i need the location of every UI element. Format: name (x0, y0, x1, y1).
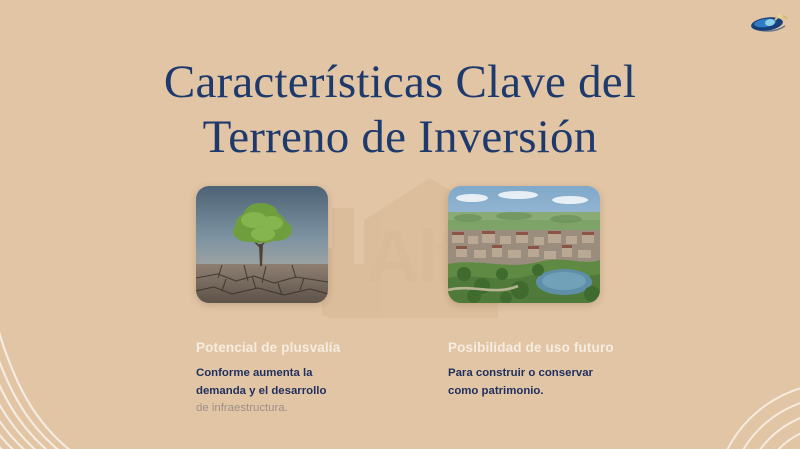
caption-body-uso-futuro: Para construir o conservar como patrimon… (448, 365, 678, 400)
caption-body-plusvalia: Conforme aumenta la demanda y el desarro… (196, 365, 411, 417)
caption-heading-plusvalia: Potencial de plusvalía (196, 340, 411, 356)
image-card-uso-futuro (448, 186, 600, 303)
caption-block-plusvalia: Potencial de plusvalía Conforme aumenta … (196, 340, 411, 417)
caption-body-line-1: Para construir o conservar (448, 367, 593, 379)
caption-heading-uso-futuro: Posibilidad de uso futuro (448, 340, 678, 356)
caption-body-line-2: como patrimonio. (448, 385, 544, 397)
watermark-text: Alf (366, 220, 459, 294)
decorative-wave-lines-left (0, 200, 170, 449)
photo-tree-on-cracked-earth (196, 186, 328, 303)
company-logo-icon (745, 5, 793, 43)
presentation-slide: Alf Características Clave del Terreno de… (0, 0, 800, 449)
caption-body-line-2: demanda y el desarrollo (196, 385, 326, 397)
slide-title: Características Clave del Terreno de Inv… (0, 55, 800, 164)
slide-title-line-1: Características Clave del (0, 55, 800, 110)
image-card-plusvalia (196, 186, 328, 303)
caption-body-line-1: Conforme aumenta la (196, 367, 312, 379)
photo-aerial-residential-development (448, 186, 600, 303)
caption-body-line-3: de infraestructura. (196, 402, 288, 414)
caption-block-uso-futuro: Posibilidad de uso futuro Para construir… (448, 340, 678, 400)
slide-title-line-2: Terreno de Inversión (0, 110, 800, 165)
